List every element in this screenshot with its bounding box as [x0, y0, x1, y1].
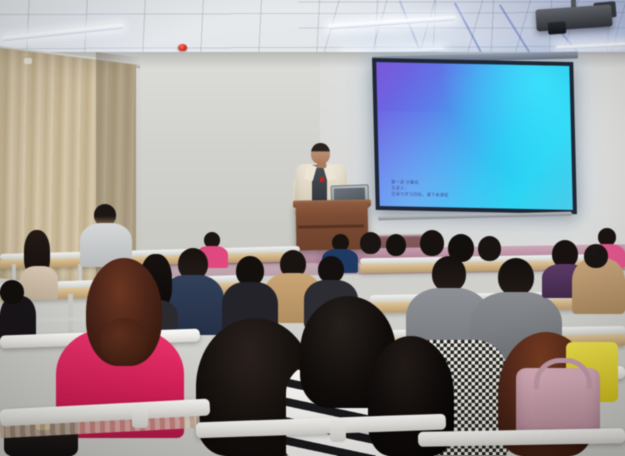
audience-person-head: [360, 232, 381, 254]
audience-person-body: [20, 266, 58, 300]
projector-lens-icon: [548, 21, 567, 34]
audience-person-hair-bun: [100, 318, 148, 366]
bench-back-front-far-right: [418, 428, 625, 447]
presenter-badge: [320, 177, 324, 182]
projection-screen-surface: 第一讲 计算机 主讲人： 目录与学习目标，课下本课程: [376, 62, 573, 210]
desk-leg-2-2: [68, 294, 73, 336]
slide-text: 第一讲 计算机 主讲人： 目录与学习目标，课下本课程: [391, 179, 449, 198]
curtain-hook: [24, 58, 32, 64]
audience-person-head: [0, 280, 24, 304]
audience-person-head: [432, 256, 466, 292]
presenter-head: [311, 143, 330, 164]
lecture-hall-photo: 第一讲 计算机 主讲人： 目录与学习目标，课下本课程: [0, 0, 625, 456]
bench-bracket: [330, 418, 346, 442]
audience-person-head: [498, 258, 534, 296]
audience-person-head: [386, 234, 406, 256]
audience-person-head: [420, 230, 444, 256]
smoke-detector-icon: [178, 44, 187, 51]
audience-person-head: [318, 256, 344, 283]
audience-person-head: [478, 236, 501, 261]
bench-bracket: [132, 404, 148, 428]
projection-screen: 第一讲 计算机 主讲人： 目录与学习目标，课下本课程: [372, 58, 577, 214]
audience-person-head: [584, 244, 608, 268]
